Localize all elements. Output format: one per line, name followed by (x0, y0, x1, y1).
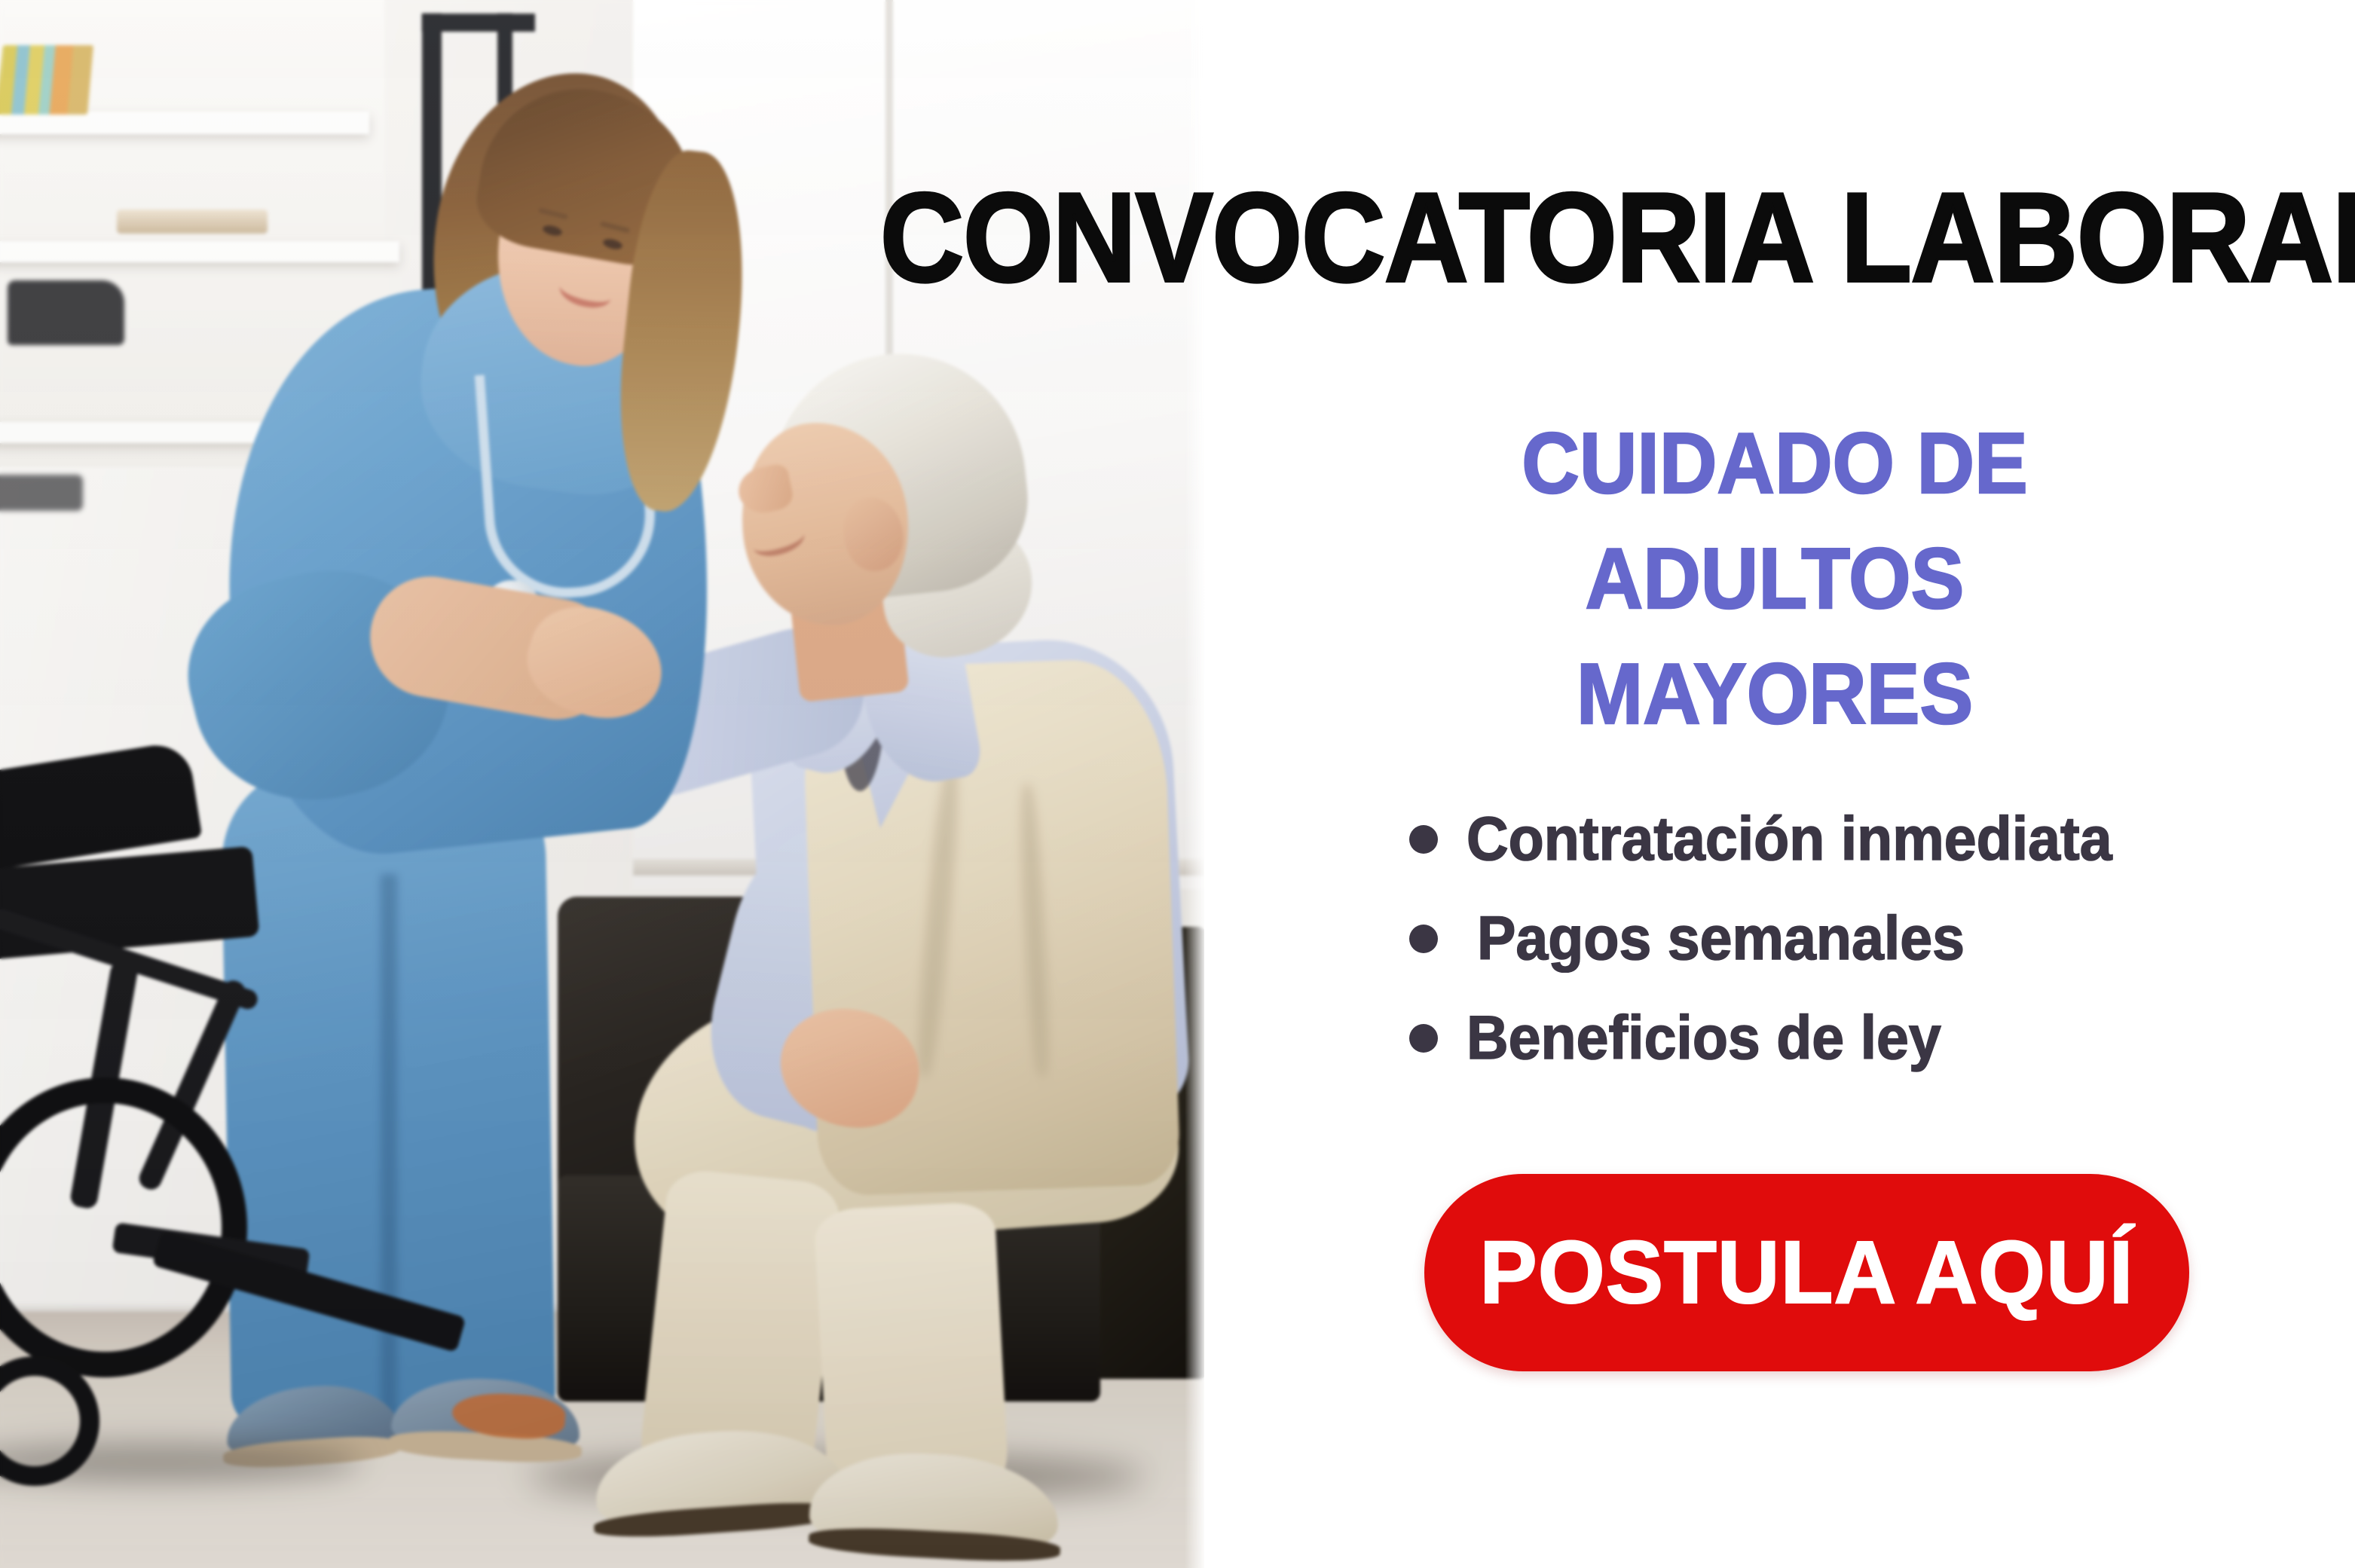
benefits-list: Contratación inmediata Pagos semanales B… (1409, 790, 2253, 1088)
apply-here-label: POSTULA AQUÍ (1480, 1228, 2134, 1317)
list-item: Pagos semanales (1409, 889, 2253, 989)
nurse-leg-separation (381, 874, 397, 1417)
page-title: CONVOCATORIA LABORAL (880, 174, 2191, 301)
shelf-dark-object-lower (0, 475, 83, 511)
job-advert-poster: CONVOCATORIA LABORAL CUIDADO DE ADULTOS … (0, 0, 2355, 1568)
subtitle-line-1: CUIDADO DE ADULTOS (1329, 407, 2219, 637)
list-item: Beneficios de ley (1409, 989, 2253, 1088)
bullet-icon (1409, 825, 1438, 854)
bullet-icon (1409, 925, 1438, 953)
apply-here-button[interactable]: POSTULA AQUÍ (1424, 1174, 2189, 1371)
shelf-object-roll (117, 209, 268, 234)
shelf-top (0, 112, 369, 134)
job-role-subtitle: CUIDADO DE ADULTOS MAYORES (1329, 407, 2219, 752)
shelf-middle (0, 241, 399, 262)
shelf-frame-upright-right (497, 14, 512, 104)
shelf-dark-object (8, 280, 124, 345)
bullet-icon (1409, 1024, 1438, 1053)
list-item: Contratación inmediata (1409, 790, 2253, 889)
subtitle-line-2: MAYORES (1329, 637, 2219, 753)
benefit-label: Beneficios de ley (1467, 1007, 1941, 1069)
benefit-label: Pagos semanales (1477, 908, 1965, 970)
benefit-label: Contratación inmediata (1467, 808, 2112, 870)
bookshelf-books (0, 45, 93, 115)
